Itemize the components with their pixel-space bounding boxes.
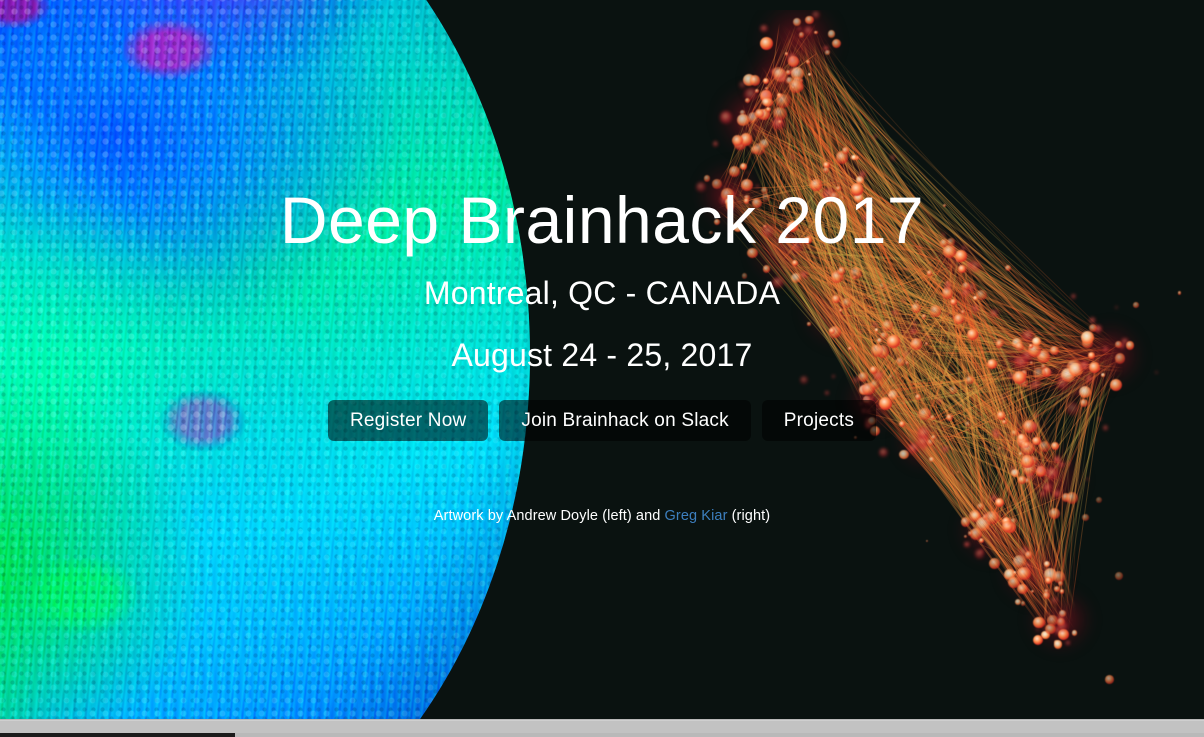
browser-viewport: Deep Brainhack 2017 Montreal, QC - CANAD… (0, 0, 1204, 737)
join-slack-button[interactable]: Join Brainhack on Slack (499, 400, 750, 441)
projects-button[interactable]: Projects (762, 400, 876, 441)
hero-dates: August 24 - 25, 2017 (451, 337, 752, 374)
artwork-credit: Artwork by Andrew Doyle (left) and Greg … (434, 508, 770, 524)
scrollbar-thumb[interactable] (0, 721, 1204, 733)
window-bottom-edge (0, 733, 1204, 737)
horizontal-scrollbar[interactable] (0, 719, 1204, 733)
hero-location: Montreal, QC - CANADA (424, 275, 780, 312)
credit-suffix: (right) (728, 508, 771, 524)
bottom-edge-segment (0, 733, 235, 737)
credit-prefix: Artwork by Andrew Doyle (left) and (434, 508, 665, 524)
hero-banner: Deep Brainhack 2017 Montreal, QC - CANAD… (0, 0, 1204, 719)
hero-button-row: Register Now Join Brainhack on Slack Pro… (328, 400, 876, 441)
connectome-artwork (690, 10, 1204, 700)
register-now-button[interactable]: Register Now (328, 400, 488, 441)
greg-kiar-link[interactable]: Greg Kiar (665, 508, 728, 524)
page-title: Deep Brainhack 2017 (280, 186, 924, 255)
